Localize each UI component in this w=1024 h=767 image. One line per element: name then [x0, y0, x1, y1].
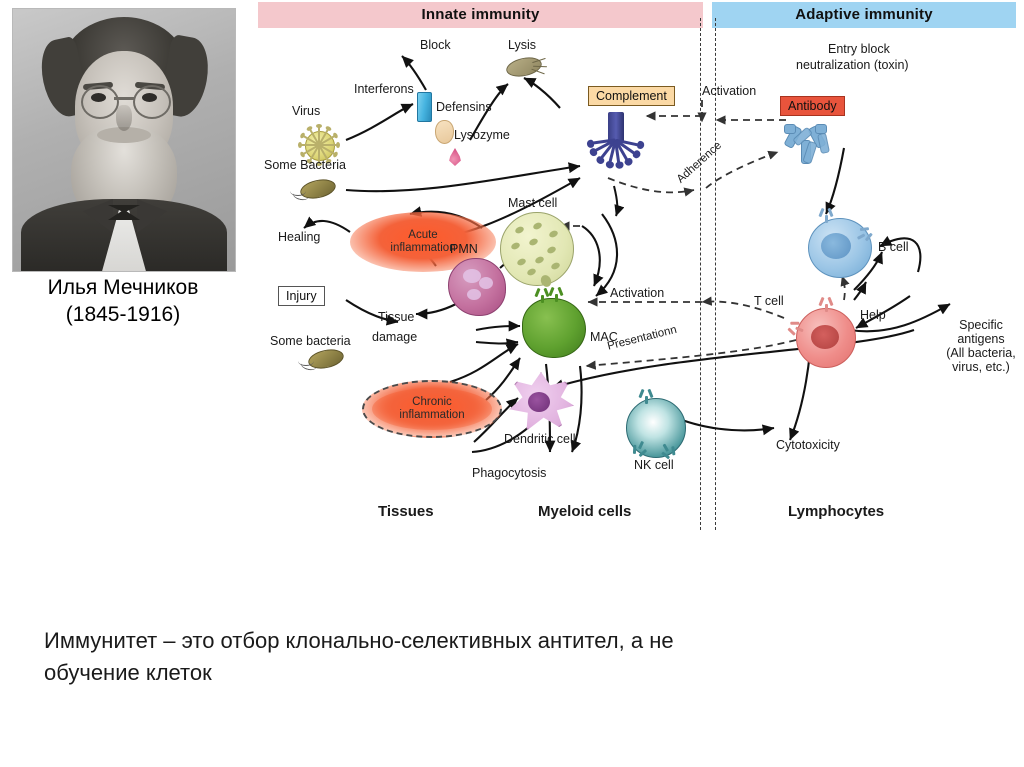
label-virus: Virus [292, 104, 320, 118]
label-cytotoxicity: Cytotoxicity [776, 438, 840, 452]
label-some-bacteria-left: Some bacteria [270, 334, 351, 348]
label-dendritic-cell: Dendritic cell [504, 432, 576, 446]
portrait-caption: Илья Мечников (1845-1916) [12, 274, 234, 328]
portrait-block: Илья Мечников (1845-1916) [12, 8, 234, 298]
portrait-photo-mechnikov [12, 8, 236, 272]
label-entry-block: Entry block [828, 42, 890, 56]
label-lysozyme: Lysozyme [454, 128, 510, 142]
label-chronic-2: inflammation [399, 409, 464, 422]
label-neutralization: neutralization (toxin) [796, 58, 909, 72]
nk-cell-icon [626, 398, 686, 458]
t-cell-icon [796, 308, 856, 368]
chronic-inflammation-blob: Chronic inflammation [362, 380, 502, 438]
portrait-name: Илья Мечников [12, 274, 234, 301]
label-acute-1: Acute [390, 229, 455, 242]
eyeglasses-icon [81, 85, 119, 119]
label-lymphocytes: Lymphocytes [788, 505, 884, 519]
label-nk-cell: NK cell [634, 458, 674, 472]
label-phagocytosis: Phagocytosis [472, 466, 546, 480]
bacterium-icon-left [302, 348, 344, 368]
bottom-caption: Иммунитет – это отбор клонально-селектив… [44, 625, 904, 689]
label-b-cell: B cell [878, 240, 909, 254]
label-activation-top: Activation [702, 84, 756, 98]
b-cell-icon [808, 218, 872, 278]
label-tissue-damage-1: Tissue [378, 310, 414, 324]
label-healing: Healing [278, 230, 320, 244]
box-injury: Injury [278, 286, 325, 306]
label-t-cell: T cell [754, 294, 784, 308]
mast-cell-icon [500, 212, 574, 286]
label-block: Block [420, 38, 451, 52]
label-interferons: Interferons [354, 82, 414, 96]
complement-protein-icon [588, 112, 644, 174]
pmn-neutrophil-icon [448, 258, 506, 316]
bacterium-icon-top [294, 178, 336, 198]
label-some-bacteria-top: Some Bacteria [264, 158, 346, 172]
bacterium-lysis-icon [500, 56, 544, 78]
label-tissue-damage-2: damage [372, 330, 417, 344]
portrait-years: (1845-1916) [12, 301, 234, 328]
label-lysis: Lysis [508, 38, 536, 52]
caption-line-2: обучение клеток [44, 657, 904, 689]
label-acute-2: inflammation [390, 242, 455, 255]
defensin-icon [435, 120, 454, 144]
caption-line-1: Иммунитет – это отбор клонально-селектив… [44, 625, 904, 657]
label-defensins: Defensins [436, 100, 492, 114]
label-specific-antigens: Specific antigens (All bacteria, virus, … [926, 318, 1024, 374]
box-antibody: Antibody [780, 96, 845, 116]
label-mast-cell: Mast cell [508, 196, 557, 210]
label-tissues: Tissues [378, 505, 434, 519]
interferon-icon [417, 92, 432, 122]
box-complement: Complement [588, 86, 675, 106]
immunity-diagram: Innate immunity Adaptive immunity [250, 0, 1024, 545]
label-activation-mid: Activation [610, 286, 664, 300]
label-help: Help [860, 308, 886, 322]
label-chronic-1: Chronic [399, 396, 464, 409]
dendritic-nucleus [528, 392, 550, 412]
macrophage-icon [522, 298, 586, 358]
label-myeloid-cells: Myeloid cells [538, 505, 631, 519]
